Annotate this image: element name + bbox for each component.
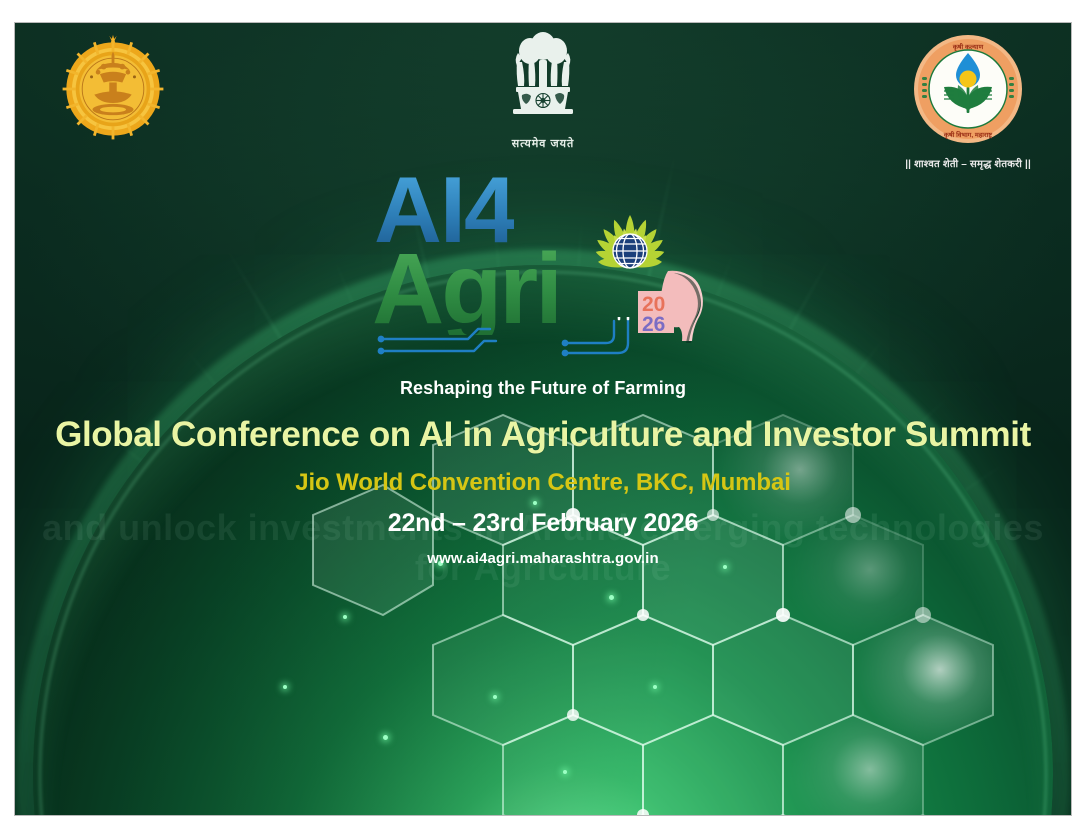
agriculture-dept-tagline: || शाश्वत शेती – समृद्ध शेतकरी || [905,156,1031,170]
conference-poster-slide: and unlock investments in AI and emergin… [14,22,1072,816]
leaf-fan-globe-icon [564,177,696,281]
satyameva-jayate-caption: सत्यमेव जयते [506,136,580,151]
ashoka-lion-capital-icon [506,29,580,129]
venue-text: Jio World Convention Centre, BKC, Mumbai [15,469,1071,497]
conference-title: Global Conference on AI in Agriculture a… [15,415,1071,455]
event-dates-text: 22nd – 23rd February 2026 [15,509,1071,538]
tagline-text: Reshaping the Future of Farming [15,378,1071,399]
maharashtra-seal-icon [57,33,169,145]
emblem-row: सत्यमेव जयते कृषी कल्याण कृषी विभाग, महा… [15,23,1071,163]
agriculture-dept-seal-icon: कृषी कल्याण कृषी विभाग, महाराष्ट्र [908,33,1028,149]
svg-text:कृषी विभाग, महाराष्ट्र: कृषी विभाग, महाराष्ट्र [943,131,993,139]
ai4agri-logo-lockup: AI4 [15,171,1071,369]
website-url-text[interactable]: www.ai4agri.maharashtra.gov.in [15,550,1071,567]
agriculture-department-emblem: कृषी कल्याण कृषी विभाग, महाराष्ट्र [905,33,1031,170]
svg-text:कृषी कल्याण: कृषी कल्याण [952,43,984,51]
india-state-emblem: सत्यमेव जयते [506,29,580,151]
circuit-trace-decoration [370,317,718,369]
maharashtra-government-emblem [57,33,169,150]
